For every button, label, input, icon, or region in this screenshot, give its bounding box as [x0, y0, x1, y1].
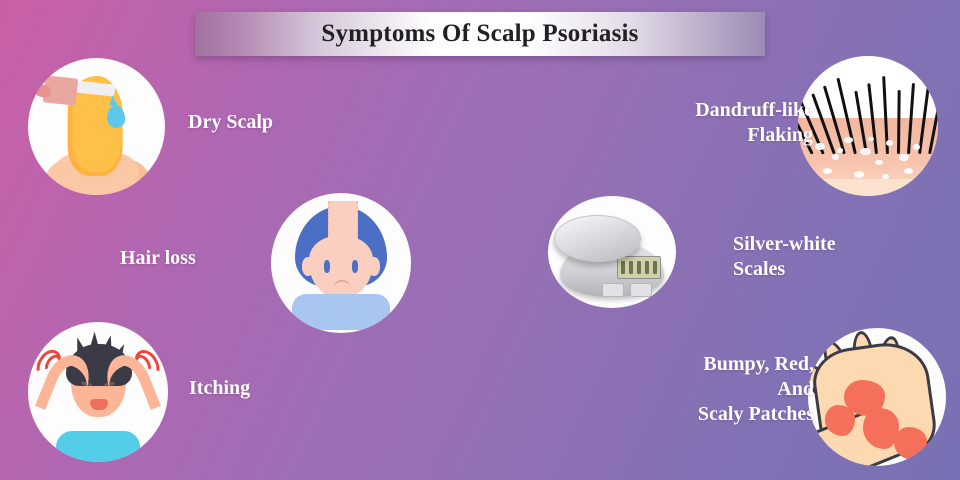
lcd-digit	[621, 261, 625, 274]
eye-right-shape	[352, 260, 358, 273]
page-title: Symptoms Of Scalp Psoriasis	[321, 20, 638, 48]
hair-loss-icon	[271, 193, 411, 333]
hair-spike-shape	[88, 332, 101, 354]
scalp-skin-lower-shape	[798, 179, 938, 196]
dry-scalp-icon	[28, 58, 165, 195]
lcd-digit	[637, 261, 641, 274]
scale-lcd-display	[617, 256, 661, 278]
itching-icon	[28, 322, 168, 462]
dandruff-flake	[882, 174, 889, 180]
dandruff-flake	[844, 137, 852, 143]
dandruff-flaking-icon	[798, 56, 938, 196]
symptom-label-itching: Itching	[189, 376, 250, 401]
scale-button-left	[602, 283, 624, 296]
mouth-shape	[90, 399, 108, 410]
dandruff-flake	[837, 148, 843, 152]
dandruff-flake	[815, 143, 825, 150]
symptom-label-dandruff-like-flaking: Dandruff-like Flaking	[618, 98, 813, 148]
symptom-label-dry-scalp: Dry Scalp	[188, 110, 273, 135]
red-patch-shape	[825, 405, 855, 435]
water-droplet-icon	[107, 104, 126, 128]
lcd-digit	[653, 261, 657, 274]
dandruff-flake	[904, 168, 912, 174]
symptom-label-silver-white-scales: Silver-white Scales	[733, 232, 923, 282]
shirt-shape	[292, 294, 390, 330]
dandruff-flake	[886, 140, 893, 146]
scale-platform-shape	[554, 215, 641, 262]
lcd-digit	[645, 261, 649, 274]
dandruff-flake	[823, 168, 831, 174]
dandruff-flake	[913, 144, 920, 150]
shirt-shape	[56, 431, 140, 462]
symptom-label-bumpy-red-scaly-patches: Bumpy, Red, And Scaly Patches	[614, 352, 814, 427]
title-banner: Symptoms Of Scalp Psoriasis	[195, 12, 765, 56]
scale-button-right	[630, 283, 652, 296]
dandruff-flake	[854, 171, 864, 178]
hair-strand	[897, 90, 901, 154]
lcd-digit	[629, 261, 633, 274]
symptom-label-hair-loss: Hair loss	[120, 246, 196, 271]
dandruff-flake	[899, 154, 909, 161]
digital-scale-icon	[548, 196, 676, 308]
skin-patches-hand-icon	[808, 328, 946, 466]
dandruff-flake	[832, 154, 839, 160]
